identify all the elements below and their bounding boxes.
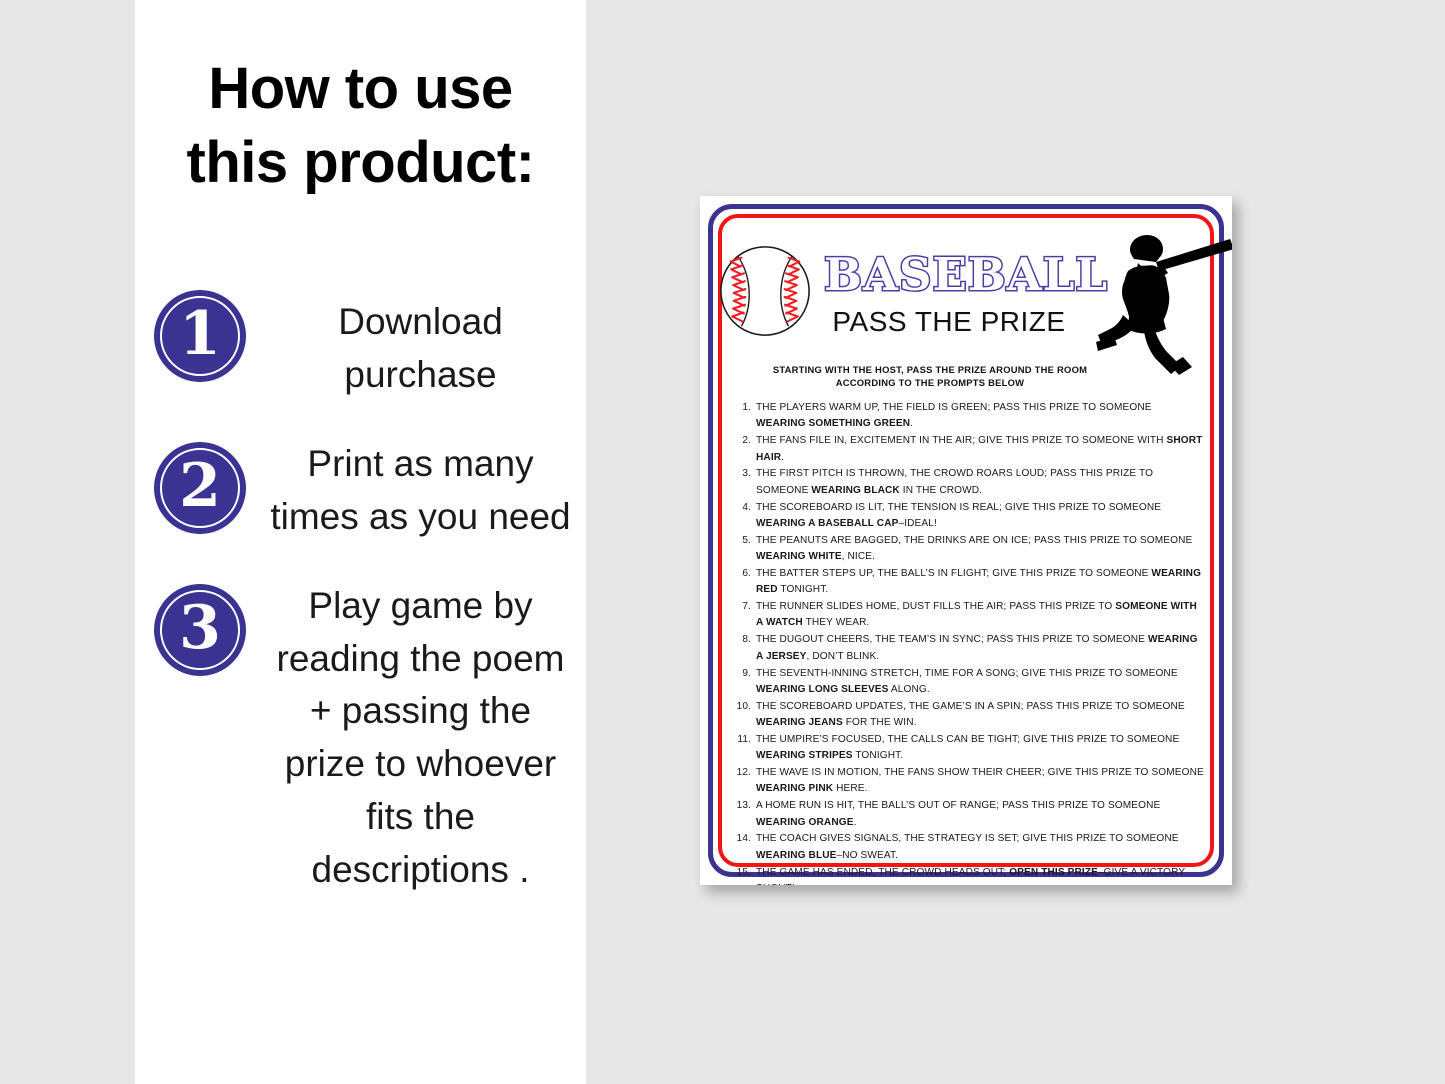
prompt-text-highlight: WEARING STRIPES (756, 750, 853, 761)
prompt-number: 6. (734, 566, 751, 582)
prompt-text-lead: THE GAME HAS ENDED, THE CROWD HEADS OUT; (756, 867, 1009, 878)
prompt-text-tail: HERE. (833, 783, 867, 794)
prompt-item: 5.THE PEANUTS ARE BAGGED, THE DRINKS ARE… (734, 533, 1204, 566)
prompt-text-tail: . (781, 452, 784, 463)
poster-content: BASEBALL PASS THE PRIZE (724, 220, 1208, 861)
step-item-1: 1 Download purchase (135, 286, 586, 402)
prompt-text-highlight: WEARING BLACK (811, 485, 899, 496)
prompt-text-tail: TONIGHT. (853, 750, 904, 761)
step-badge-wrap-1: 1 (135, 286, 265, 382)
prompt-text-lead: THE UMPIRE’S FOCUSED, THE CALLS CAN BE T… (756, 734, 1179, 745)
prompt-text-tail: –NO SWEAT. (837, 850, 899, 861)
prompt-text-highlight: OPEN THIS PRIZE (1009, 867, 1098, 878)
prompt-text-highlight: WEARING SOMETHING GREEN (756, 418, 910, 429)
prompt-item: 6.THE BATTER STEPS UP, THE BALL’S IN FLI… (734, 566, 1204, 599)
prompt-item: 10.THE SCOREBOARD UPDATES, THE GAME’S IN… (734, 699, 1204, 732)
poster-subtitle: PASS THE PRIZE (784, 306, 1114, 338)
prompt-text-lead: THE WAVE IS IN MOTION, THE FANS SHOW THE… (756, 767, 1204, 778)
prompt-text-tail: ALONG. (889, 684, 930, 695)
prompt-text-lead: THE DUGOUT CHEERS, THE TEAM’S IN SYNC; P… (756, 634, 1148, 645)
poster-header: BASEBALL PASS THE PRIZE (724, 220, 1208, 365)
prompt-text-highlight: WEARING WHITE (756, 551, 842, 562)
step-badge-wrap-3: 3 (135, 580, 265, 676)
step-number-1: 1 (179, 304, 221, 364)
prompt-number: 8. (734, 632, 751, 648)
poster-instruction: STARTING WITH THE HOST, PASS THE PRIZE A… (760, 364, 1100, 389)
prompt-number: 5. (734, 533, 751, 549)
prompt-number: 13. (734, 798, 751, 814)
prompt-number: 14. (734, 831, 751, 847)
step-badge-1: 1 (154, 290, 246, 382)
prompt-number: 7. (734, 599, 751, 615)
prompt-text-tail: IN THE CROWD. (900, 485, 982, 496)
prompt-text-highlight: WEARING LONG SLEEVES (756, 684, 889, 695)
prompt-text-tail: . (854, 817, 857, 828)
step-badge-2: 2 (154, 442, 246, 534)
prompt-number: 4. (734, 500, 751, 516)
prompt-number: 9. (734, 666, 751, 682)
prompt-text-tail: , NICE. (842, 551, 875, 562)
poster-wordmark: BASEBALL (812, 252, 1120, 297)
prompt-text-highlight: WEARING A BASEBALL CAP (756, 518, 898, 529)
prompt-number: 15. (734, 865, 751, 881)
prompt-item: 4.THE SCOREBOARD IS LIT, THE TENSION IS … (734, 500, 1204, 533)
prompt-number: 3. (734, 466, 751, 482)
prompt-text-highlight: WEARING BLUE (756, 850, 837, 861)
prompt-text-lead: THE PEANUTS ARE BAGGED, THE DRINKS ARE O… (756, 535, 1192, 546)
step-badge-3: 3 (154, 584, 246, 676)
prompt-item: 15.THE GAME HAS ENDED, THE CROWD HEADS O… (734, 865, 1204, 885)
prompt-text-tail: , DON’T BLINK. (807, 651, 880, 662)
prompt-text-lead: THE PLAYERS WARM UP, THE FIELD IS GREEN;… (756, 402, 1152, 413)
prompts-list: 1.THE PLAYERS WARM UP, THE FIELD IS GREE… (734, 400, 1204, 885)
how-to-use-panel: How to use this product: 1 Download purc… (135, 0, 586, 1084)
prompt-text-lead: THE COACH GIVES SIGNALS, THE STRATEGY IS… (756, 833, 1179, 844)
prompt-item: 9.THE SEVENTH-INNING STRETCH, TIME FOR A… (734, 666, 1204, 699)
prompt-item: 2.THE FANS FILE IN, EXCITEMENT IN THE AI… (734, 433, 1204, 466)
prompt-item: 3.THE FIRST PITCH IS THROWN, THE CROWD R… (734, 466, 1204, 499)
prompt-text-tail: –IDEAL! (898, 518, 936, 529)
prompt-item: 7.THE RUNNER SLIDES HOME, DUST FILLS THE… (734, 599, 1204, 632)
baseball-pass-the-prize-poster: BASEBALL PASS THE PRIZE (700, 196, 1232, 885)
prompt-text-lead: THE RUNNER SLIDES HOME, DUST FILLS THE A… (756, 601, 1115, 612)
prompt-text-lead: THE BATTER STEPS UP, THE BALL’S IN FLIGH… (756, 568, 1151, 579)
prompt-text-lead: THE FANS FILE IN, EXCITEMENT IN THE AIR;… (756, 435, 1167, 446)
prompt-text-tail: TONIGHT. (778, 584, 829, 595)
step-text-1: Download purchase (265, 286, 586, 402)
prompt-text-lead: THE SCOREBOARD IS LIT, THE TENSION IS RE… (756, 502, 1161, 513)
prompt-number: 10. (734, 699, 751, 715)
prompt-number: 1. (734, 400, 751, 416)
steps-list: 1 Download purchase 2 Print as many time… (135, 286, 586, 933)
prompt-item: 13.A HOME RUN IS HIT, THE BALL’S OUT OF … (734, 798, 1204, 831)
prompt-number: 12. (734, 765, 751, 781)
prompt-item: 1.THE PLAYERS WARM UP, THE FIELD IS GREE… (734, 400, 1204, 433)
prompt-item: 8.THE DUGOUT CHEERS, THE TEAM’S IN SYNC;… (734, 632, 1204, 665)
prompt-text-tail: THEY WEAR. (803, 617, 870, 628)
prompt-text-tail: FOR THE WIN. (843, 717, 917, 728)
step-number-3: 3 (179, 598, 221, 658)
prompt-text-lead: A HOME RUN IS HIT, THE BALL’S OUT OF RAN… (756, 800, 1160, 811)
prompt-item: 12.THE WAVE IS IN MOTION, THE FANS SHOW … (734, 765, 1204, 798)
prompt-text-highlight: WEARING JEANS (756, 717, 843, 728)
step-badge-wrap-2: 2 (135, 438, 265, 534)
step-item-3: 3 Play game by reading the poem + passin… (135, 580, 586, 897)
prompt-number: 11. (734, 732, 751, 748)
step-text-2: Print as many times as you need (265, 438, 586, 544)
prompt-item: 14.THE COACH GIVES SIGNALS, THE STRATEGY… (734, 831, 1204, 864)
batter-silhouette-icon (1088, 226, 1232, 376)
prompt-item: 11.THE UMPIRE’S FOCUSED, THE CALLS CAN B… (734, 732, 1204, 765)
step-number-2: 2 (179, 456, 221, 516)
prompt-text-highlight: WEARING PINK (756, 783, 833, 794)
step-item-2: 2 Print as many times as you need (135, 438, 586, 544)
prompt-text-tail: . (910, 418, 913, 429)
prompt-text-lead: THE SEVENTH-INNING STRETCH, TIME FOR A S… (756, 668, 1178, 679)
prompt-text-lead: THE SCOREBOARD UPDATES, THE GAME’S IN A … (756, 701, 1185, 712)
prompt-number: 2. (734, 433, 751, 449)
prompt-text-highlight: WEARING ORANGE (756, 817, 854, 828)
page-title: How to use this product: (135, 52, 586, 200)
step-text-3: Play game by reading the poem + passing … (265, 580, 586, 897)
